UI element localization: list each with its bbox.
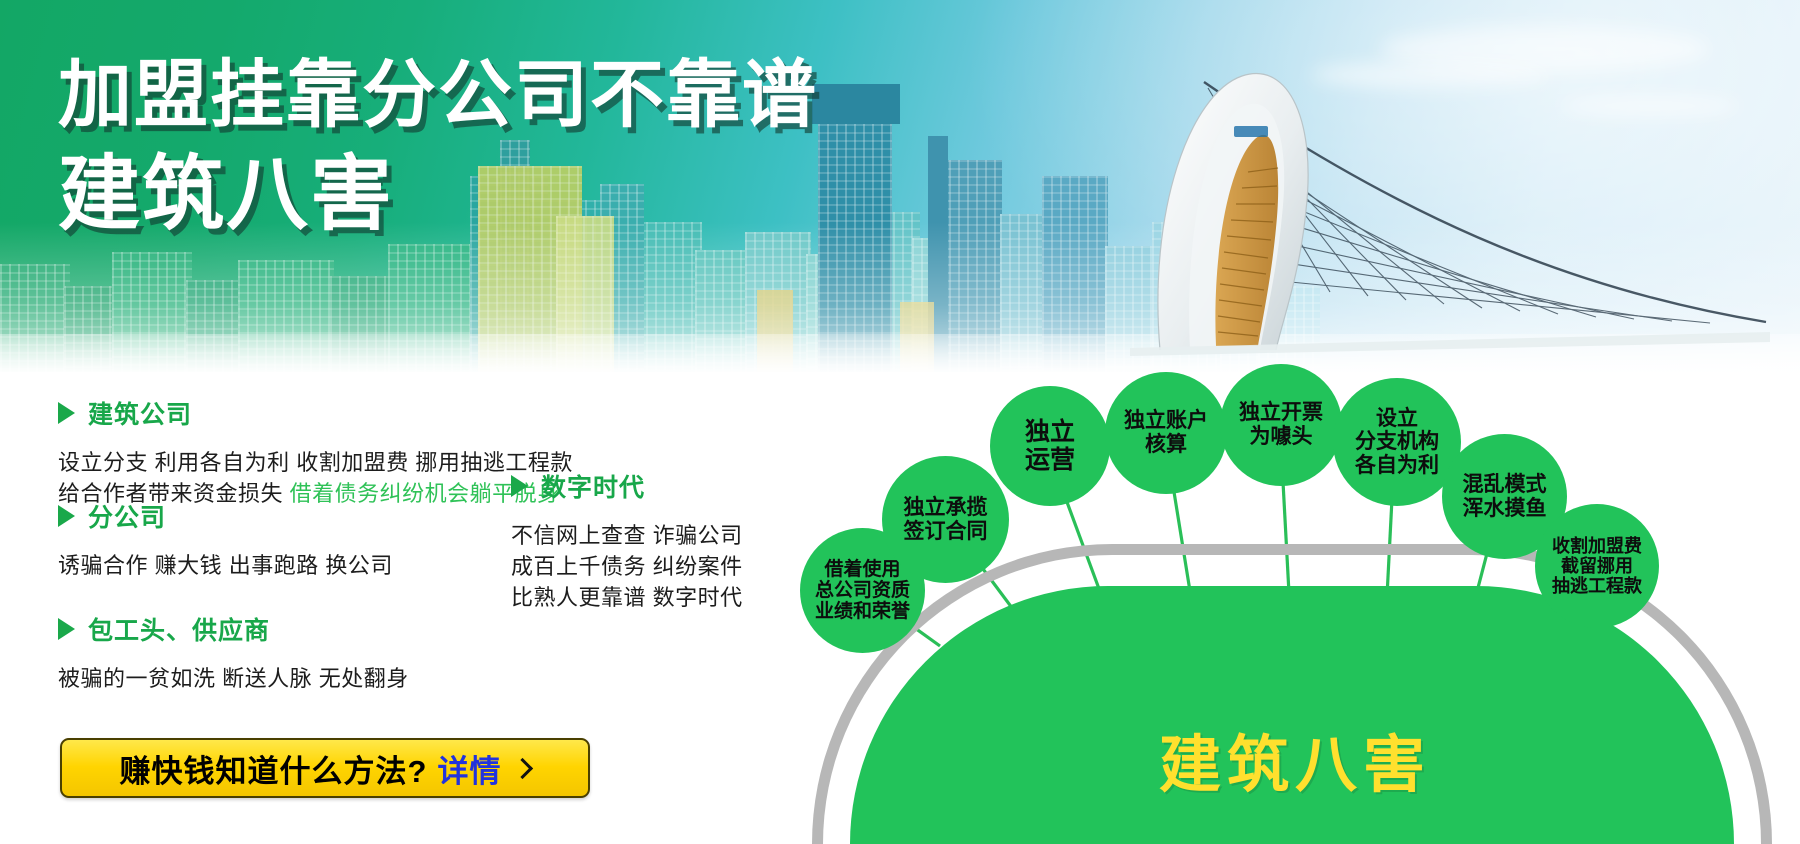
bubble-line: 截留挪用 — [1552, 556, 1642, 576]
triangle-right-icon — [58, 505, 75, 527]
bubble-line: 分支机构 — [1355, 430, 1439, 454]
bubble-line: 业绩和荣誉 — [815, 601, 910, 622]
section-contractor-supplier: 包工头、供应商 被骗的一贫如洗 断送人脉 无处翻身 — [58, 611, 538, 694]
bridge-landmark — [1130, 60, 1770, 360]
bubble-line: 为噱头 — [1239, 425, 1323, 449]
bubble-line: 独立开票 — [1239, 401, 1323, 425]
bubble-line: 签订合同 — [904, 520, 988, 544]
section-heading-label: 包工头、供应商 — [88, 611, 270, 647]
bubble-line: 抽逃工程款 — [1552, 576, 1642, 596]
section-digital-era: 数字时代 不信网上查查 诈骗公司 成百上千债务 纠纷案件 比熟人更靠谱 数字时代 — [511, 468, 831, 613]
section-heading-row: 分公司 — [58, 498, 538, 534]
section-heading-row: 建筑公司 — [58, 395, 758, 431]
bubble-line: 混乱模式 — [1463, 473, 1547, 497]
bubble-diagram: 建筑八害 借着使用 总公司资质 业绩和荣誉 独立承揽 签订合同 独立 运营 独立… — [790, 378, 1800, 844]
body-text-black: 被骗的一贫如洗 断送人脉 无处翻身 — [58, 666, 409, 691]
cta-button[interactable]: 赚快钱知道什么方法? 详情 — [60, 738, 590, 798]
bubble-line: 各自为利 — [1355, 454, 1439, 478]
bubble-line: 核算 — [1124, 433, 1208, 457]
bubble-node-8[interactable]: 收割加盟费 截留挪用 抽逃工程款 — [1535, 504, 1659, 628]
bubble-node-5[interactable]: 独立开票 为噱头 — [1220, 364, 1342, 486]
section-heading-label: 建筑公司 — [88, 395, 192, 431]
hero-banner: 加盟挂靠分公司不靠谱 建筑八害 — [0, 0, 1800, 372]
bubble-node-4[interactable]: 独立账户 核算 — [1105, 372, 1227, 494]
section-body-line: 被骗的一贫如洗 断送人脉 无处翻身 — [58, 663, 538, 694]
bubble-line: 设立 — [1355, 407, 1439, 431]
section-body-line: 不信网上查查 诈骗公司 — [511, 520, 831, 551]
body-text-black: 诱骗合作 赚大钱 出事跑路 换公司 — [58, 553, 393, 578]
bubble-line: 独立账户 — [1124, 409, 1208, 433]
hero-title-line1: 加盟挂靠分公司不靠谱 — [58, 58, 818, 132]
bubble-line: 运营 — [1025, 446, 1075, 474]
section-body-line: 成百上千债务 纠纷案件 — [511, 551, 831, 582]
bubble-line: 收割加盟费 — [1552, 536, 1642, 556]
bubble-line: 浑水摸鱼 — [1463, 497, 1547, 521]
cta-link-label[interactable]: 详情 — [437, 746, 501, 791]
section-branch-company: 分公司 诱骗合作 赚大钱 出事跑路 换公司 — [58, 498, 538, 581]
bubble-line: 总公司资质 — [815, 580, 910, 601]
chevron-right-icon — [512, 757, 533, 778]
triangle-right-icon — [511, 475, 528, 497]
body-text-black: 设立分支 利用各自为利 收割加盟费 挪用抽逃工程款 — [58, 450, 573, 475]
bubble-line: 独立 — [1025, 418, 1075, 446]
section-heading-label: 数字时代 — [541, 468, 645, 504]
dome-center-label: 建筑八害 — [790, 714, 1800, 804]
left-sub-column: 分公司 诱骗合作 赚大钱 出事跑路 换公司 包工头、供应商 被骗的一贫如洗 断送… — [58, 498, 538, 698]
section-body-line: 诱骗合作 赚大钱 出事跑路 换公司 — [58, 550, 538, 581]
section-heading-label: 分公司 — [88, 498, 166, 534]
poster-root: 加盟挂靠分公司不靠谱 建筑八害 建筑公司 设立分支 利用各自为利 收割加盟费 挪… — [0, 0, 1800, 844]
triangle-right-icon — [58, 402, 75, 424]
hero-title-line2: 建筑八害 — [58, 154, 818, 236]
bubble-line: 独立承揽 — [904, 496, 988, 520]
bubble-node-2[interactable]: 独立承揽 签订合同 — [882, 456, 1009, 583]
triangle-right-icon — [58, 618, 75, 640]
bubble-line: 借着使用 — [815, 559, 910, 580]
cta-main-label: 赚快钱知道什么方法? — [120, 746, 428, 791]
section-heading-row: 数字时代 — [511, 468, 831, 504]
hero-title-group: 加盟挂靠分公司不靠谱 建筑八害 — [58, 58, 818, 236]
bubble-node-3[interactable]: 独立 运营 — [990, 386, 1110, 506]
section-heading-row: 包工头、供应商 — [58, 611, 538, 647]
section-body-line: 比熟人更靠谱 数字时代 — [511, 582, 831, 613]
